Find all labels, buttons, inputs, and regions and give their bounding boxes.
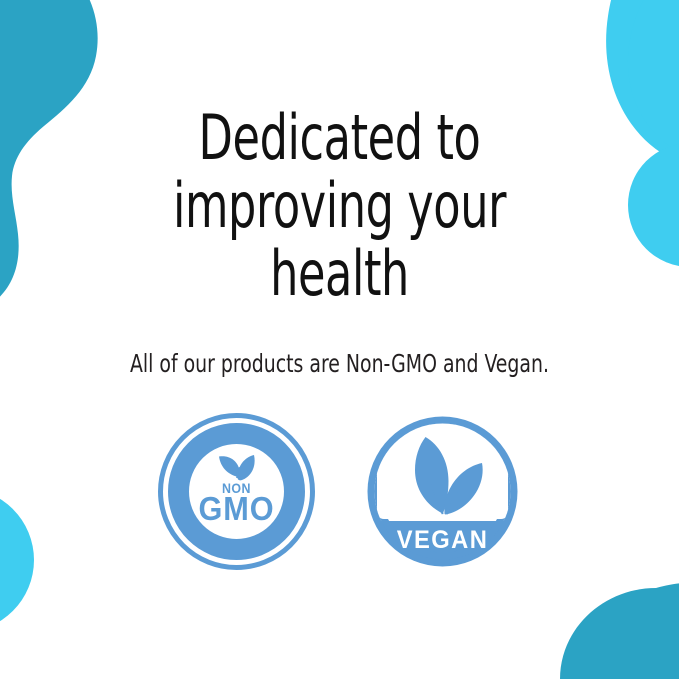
blob-bottom-right-shape — [560, 582, 679, 679]
blob-top-right-shape-b — [628, 0, 679, 152]
vegan-badge-graphic: VEGAN — [363, 412, 522, 571]
headline-line-2: improving your — [68, 172, 611, 240]
vegan-label: VEGAN — [397, 526, 489, 554]
vegan-badge: VEGAN — [363, 412, 522, 571]
non-gmo-label-main: GMO — [198, 490, 274, 527]
blob-bottom-center-shape — [560, 588, 679, 679]
headline-line-1: Dedicated to — [68, 104, 611, 172]
headline-line-3: health — [68, 240, 611, 308]
page-title: Dedicated to improving your health — [68, 104, 611, 308]
circle-right-edge-shape — [628, 143, 679, 267]
certification-badges: NON GMO — [0, 412, 679, 582]
blob-top-right-shape — [606, 0, 679, 171]
non-gmo-badge-graphic: NON GMO — [157, 412, 316, 571]
non-gmo-badge: NON GMO — [157, 412, 316, 571]
promo-banner: Dedicated to improving your health All o… — [0, 0, 679, 679]
subtitle: All of our products are Non-GMO and Vega… — [54, 349, 624, 379]
